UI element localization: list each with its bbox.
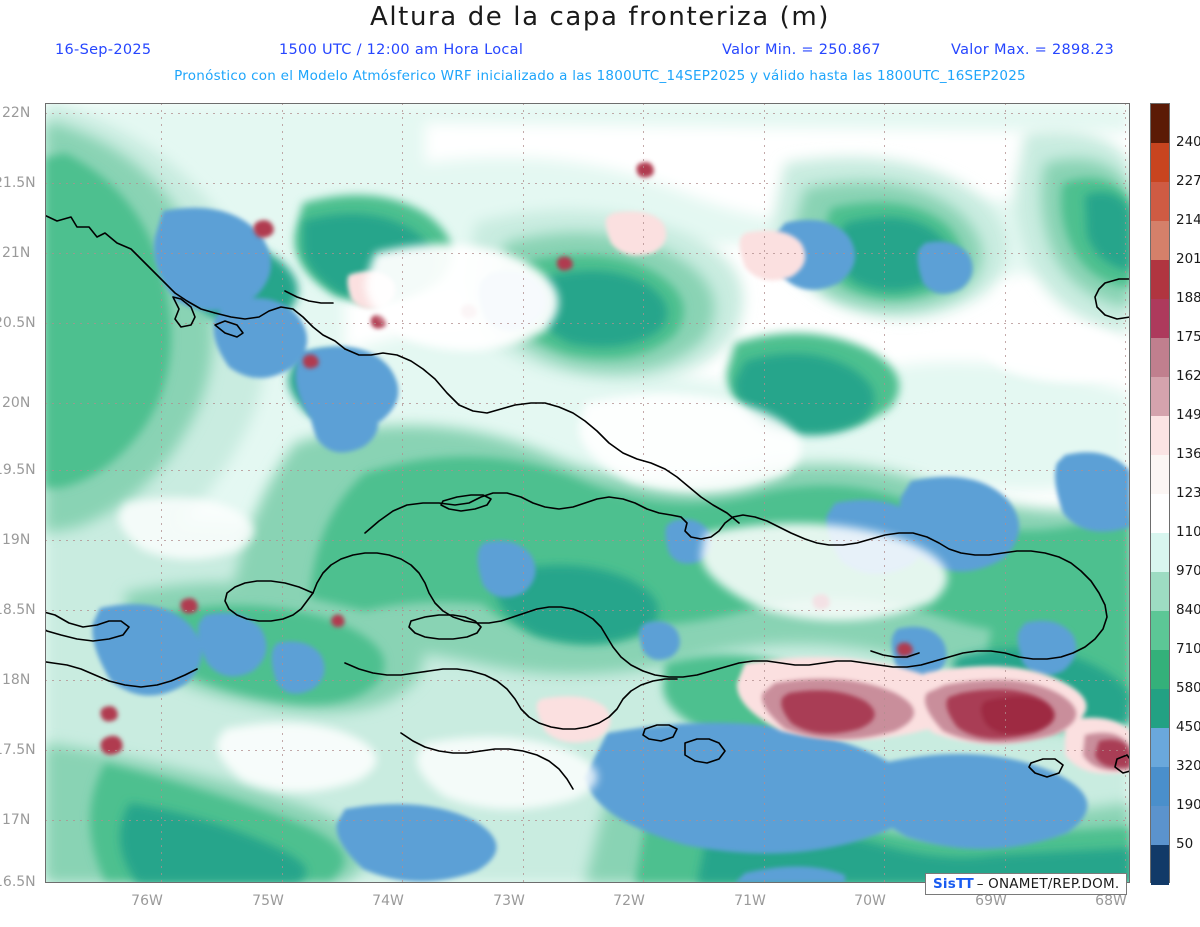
colorbar-band-4	[1151, 260, 1169, 300]
colorbar-tick-1100: 1100	[1176, 524, 1200, 540]
y-tick-175n: 17.5N	[0, 742, 36, 758]
page-title: Altura de la capa fronteriza (m)	[0, 2, 1200, 32]
y-tick-22n: 22N	[2, 105, 30, 121]
colorbar-tick-1360: 1360	[1176, 446, 1200, 462]
y-tick-18n: 18N	[2, 672, 30, 688]
x-tick-74w: 74W	[372, 893, 404, 909]
y-tick-195n: 19.5N	[0, 462, 36, 478]
colorbar-tick-710: 710	[1176, 641, 1200, 657]
y-tick-19n: 19N	[2, 532, 30, 548]
colorbar-band-5	[1151, 299, 1169, 339]
y-tick-17n: 17N	[2, 812, 30, 828]
colorbar-band-8	[1151, 416, 1169, 456]
y-tick-165n: 16.5N	[0, 874, 36, 890]
colorbar-tick-320: 320	[1176, 758, 1200, 774]
y-tick-20n: 20N	[2, 395, 30, 411]
x-tick-70w: 70W	[854, 893, 886, 909]
colorbar-band-13	[1151, 611, 1169, 651]
colorbar-tick-2140: 2140	[1176, 212, 1200, 228]
attribution-box: SisTT – ONAMET/REP.DOM.	[925, 873, 1127, 895]
y-tick-215n: 21.5N	[0, 175, 36, 191]
colorbar-tick-2270: 2270	[1176, 173, 1200, 189]
colorbar-tick-580: 580	[1176, 680, 1200, 696]
contour-field-svg	[45, 103, 1130, 883]
x-tick-68w: 68W	[1095, 893, 1127, 909]
colorbar-band-11	[1151, 533, 1169, 573]
map-plot-area[interactable]	[45, 103, 1130, 883]
model-description: Pronóstico con el Modelo Atmósferico WRF…	[0, 68, 1200, 88]
header-info-line: 16-Sep-2025 1500 UTC / 12:00 am Hora Loc…	[0, 42, 1200, 62]
sistt-logo: SisTT	[933, 876, 973, 892]
colorbar-band-15	[1151, 689, 1169, 729]
colorbar[interactable]	[1150, 103, 1170, 883]
value-min: Valor Min. = 250.867	[722, 42, 881, 58]
colorbar-band-6	[1151, 338, 1169, 378]
colorbar-band-2	[1151, 182, 1169, 222]
colorbar-band-1	[1151, 143, 1169, 183]
colorbar-band-16	[1151, 728, 1169, 768]
x-tick-73w: 73W	[493, 893, 525, 909]
colorbar-tick-1230: 1230	[1176, 485, 1200, 501]
colorbar-tick-1750: 1750	[1176, 329, 1200, 345]
value-max: Valor Max. = 2898.23	[951, 42, 1114, 58]
colorbar-band-3	[1151, 221, 1169, 261]
weather-map-page: Altura de la capa fronteriza (m) 16-Sep-…	[0, 0, 1200, 927]
colorbar-band-10	[1151, 494, 1169, 534]
colorbar-tick-2010: 2010	[1176, 251, 1200, 267]
forecast-time: 1500 UTC / 12:00 am Hora Local	[279, 42, 523, 58]
colorbar-band-19	[1151, 845, 1169, 885]
x-tick-72w: 72W	[613, 893, 645, 909]
y-tick-185n: 18.5N	[0, 602, 36, 618]
colorbar-band-18	[1151, 806, 1169, 846]
colorbar-band-0	[1151, 104, 1169, 144]
colorbar-band-17	[1151, 767, 1169, 807]
colorbar-tick-1880: 1880	[1176, 290, 1200, 306]
x-tick-69w: 69W	[975, 893, 1007, 909]
colorbar-band-14	[1151, 650, 1169, 690]
forecast-date: 16-Sep-2025	[55, 42, 151, 58]
colorbar-tick-2400: 2400	[1176, 134, 1200, 150]
colorbar-tick-50: 50	[1176, 836, 1193, 852]
colorbar-band-12	[1151, 572, 1169, 612]
x-tick-71w: 71W	[734, 893, 766, 909]
colorbar-tick-840: 840	[1176, 602, 1200, 618]
y-tick-205n: 20.5N	[0, 315, 36, 331]
y-tick-21n: 21N	[2, 245, 30, 261]
colorbar-tick-970: 970	[1176, 563, 1200, 579]
contour-field	[45, 103, 1130, 883]
colorbar-band-9	[1151, 455, 1169, 495]
x-tick-76w: 76W	[131, 893, 163, 909]
colorbar-tick-1620: 1620	[1176, 368, 1200, 384]
x-tick-75w: 75W	[252, 893, 284, 909]
colorbar-tick-1490: 1490	[1176, 407, 1200, 423]
colorbar-band-7	[1151, 377, 1169, 417]
colorbar-tick-190: 190	[1176, 797, 1200, 813]
attribution-text: – ONAMET/REP.DOM.	[977, 876, 1120, 892]
colorbar-tick-450: 450	[1176, 719, 1200, 735]
